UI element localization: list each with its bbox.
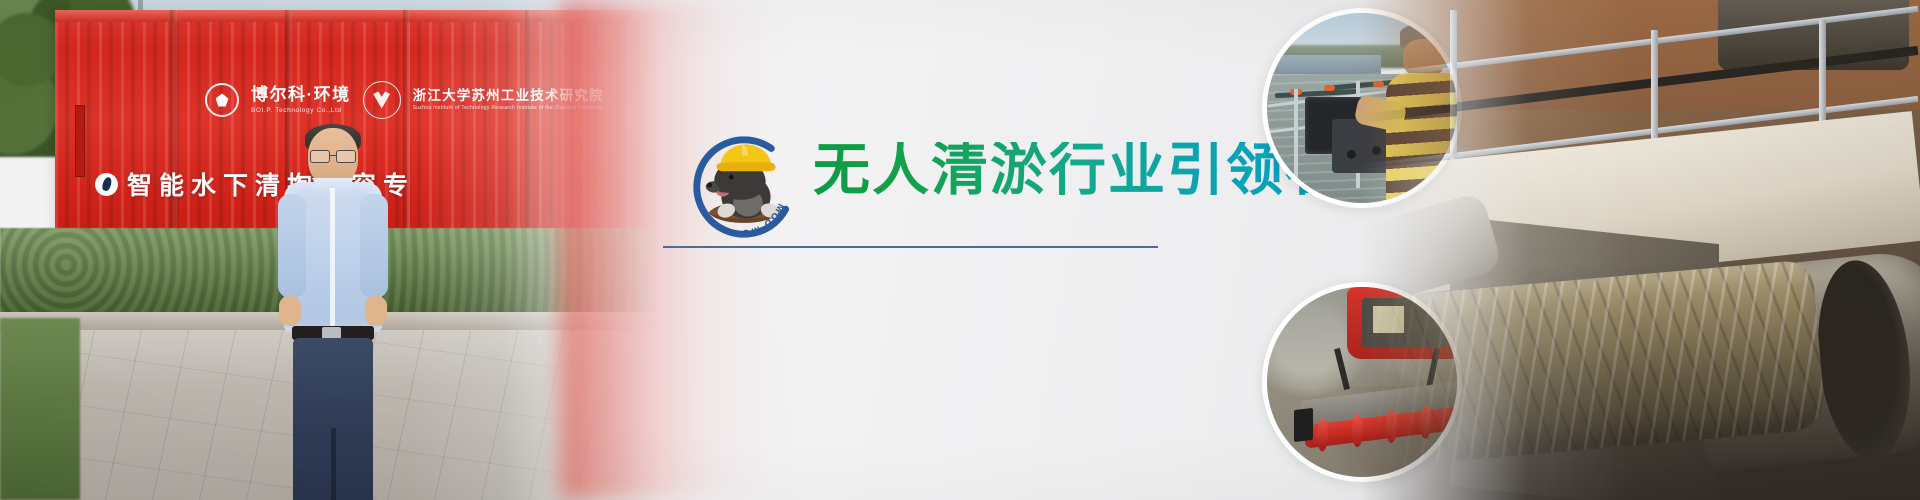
promotional-banner: 博尔科·环境 BOI.P. Technology Co.,Ltd 浙江大学苏州工… xyxy=(0,0,1920,500)
float-buoy xyxy=(1324,85,1335,91)
person-shirt-placket xyxy=(330,188,335,328)
auger-end-cap xyxy=(1294,407,1313,442)
container-top-rail xyxy=(55,10,660,22)
center-content: MUD MOLE 无人清淤行业引领者 xyxy=(663,120,1183,270)
container-seam xyxy=(403,10,410,255)
headline-divider xyxy=(663,246,1158,248)
rail-post xyxy=(1450,10,1457,160)
container-seam xyxy=(525,10,532,255)
company-name-en: BOI.P. Technology Co.,Ltd xyxy=(251,107,351,114)
sludge-discharge-pipe-photo xyxy=(1360,0,1920,500)
scene-shadow-gradient xyxy=(1360,260,1920,500)
institute-name-cn: 浙江大学苏州工业技术研究院 xyxy=(413,89,604,103)
rail-post xyxy=(1294,89,1298,199)
seal-icon xyxy=(363,81,401,119)
container-and-executive-photo: 博尔科·环境 BOI.P. Technology Co.,Ltd 浙江大学苏州工… xyxy=(0,0,660,500)
person-left-hand xyxy=(279,296,301,326)
person-right-sleeve xyxy=(360,194,388,298)
grass-verge xyxy=(0,318,80,500)
headline-text: 无人清淤行业引领者 xyxy=(813,142,1344,199)
company-brand-block: 博尔科·环境 BOI.P. Technology Co.,Ltd xyxy=(251,86,351,114)
institute-name-en: Suzhou Institute of Technology Research … xyxy=(413,105,604,111)
drop-icon xyxy=(95,173,118,196)
eyeglasses-icon xyxy=(310,150,356,161)
shield-icon xyxy=(205,83,239,117)
person-right-hand xyxy=(365,296,387,326)
institute-brand-block: 浙江大学苏州工业技术研究院 Suzhou Institute of Techno… xyxy=(413,89,604,112)
company-name-cn: 博尔科·环境 xyxy=(251,86,351,103)
container-seam xyxy=(170,10,177,255)
person-leg-seam xyxy=(331,428,336,500)
executive-person xyxy=(278,128,388,500)
container-door-latch xyxy=(75,105,85,177)
console-joystick xyxy=(1347,150,1356,159)
mud-mole-logo: MUD MOLE xyxy=(685,128,803,246)
person-left-sleeve xyxy=(278,194,306,298)
container-logo-row: 博尔科·环境 BOI.P. Technology Co.,Ltd 浙江大学苏州工… xyxy=(205,76,635,124)
